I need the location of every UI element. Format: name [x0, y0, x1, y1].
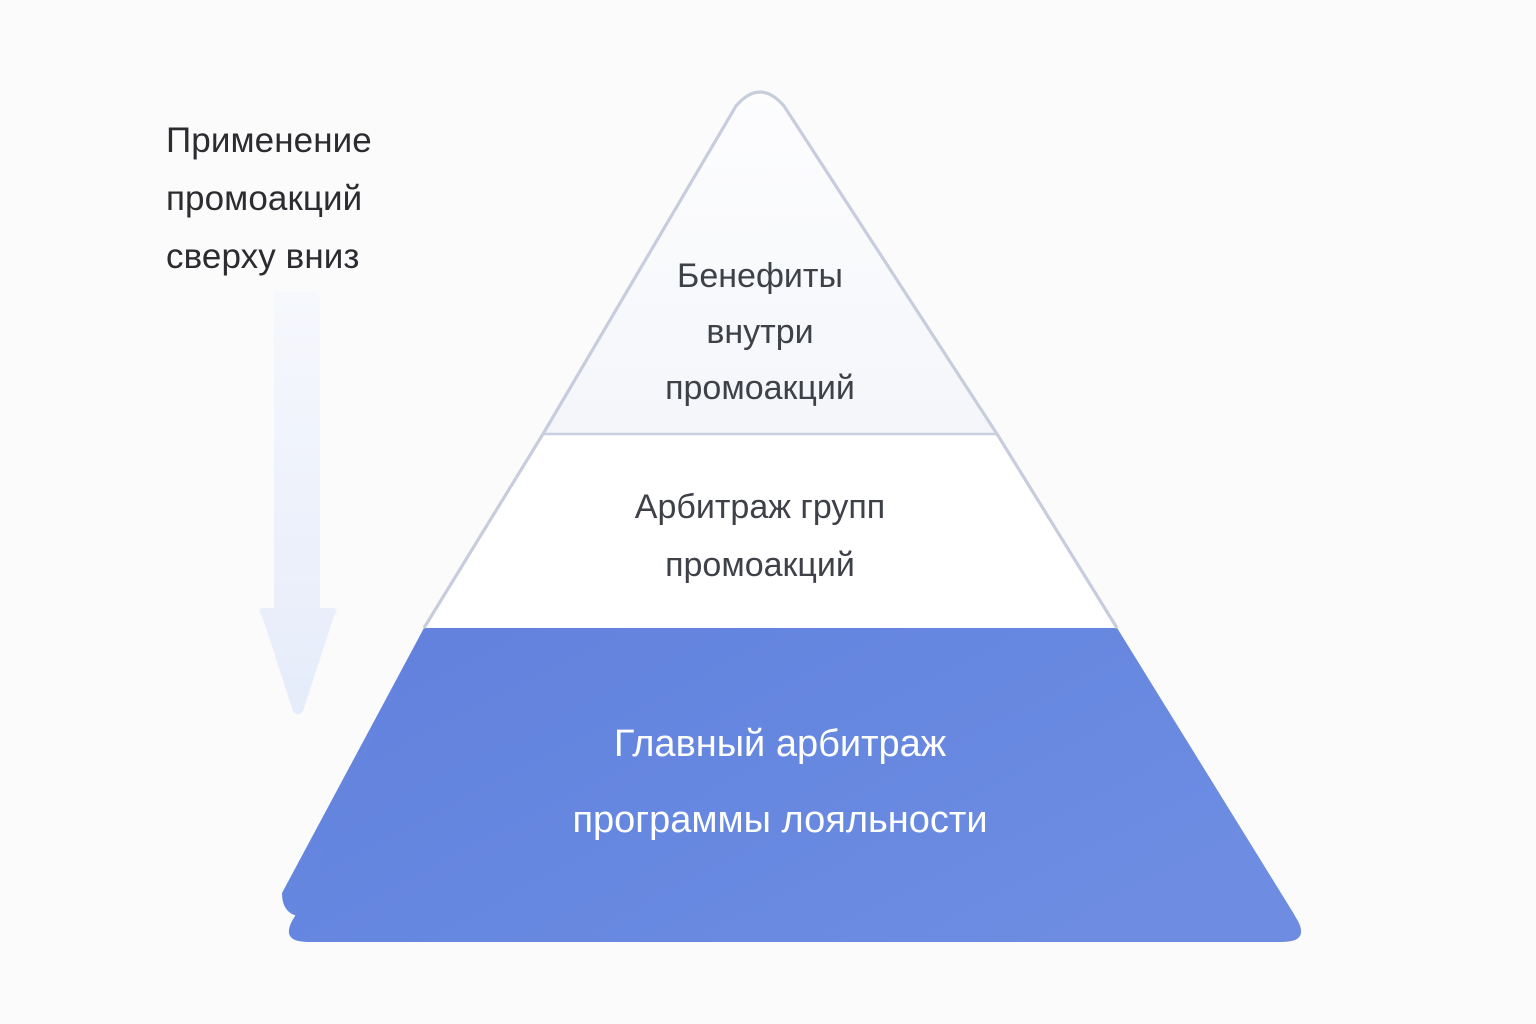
- pyramid-tier-3-label: Главный арбитраж программы лояльности: [470, 706, 1090, 858]
- diagram-canvas: Применение промоакций сверху вниз: [0, 0, 1536, 1024]
- pyramid-tier-1-label: Бенефиты внутри промоакций: [600, 248, 920, 416]
- pyramid-tier-2-label: Арбитраж групп промоакций: [560, 478, 960, 594]
